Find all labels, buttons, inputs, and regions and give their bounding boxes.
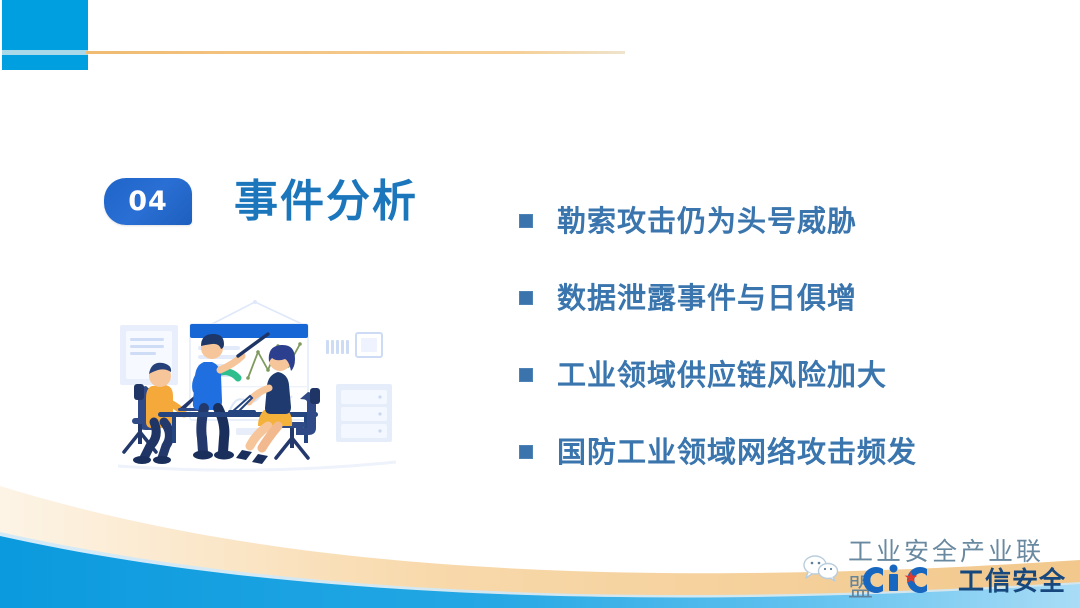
square-bullet-icon <box>519 214 533 228</box>
list-item: 数据泄露事件与日俱增 <box>519 279 917 317</box>
logo-cn-label: 工信安全 <box>958 561 1066 598</box>
logo-row: 工信安全 <box>859 561 1066 598</box>
cic-logo-icon <box>859 563 955 597</box>
wechat-icon <box>802 554 842 582</box>
page-title: 事件分析 <box>234 180 418 224</box>
section-number-label: 04 <box>128 186 168 217</box>
list-item: 工业领域供应链风险加大 <box>519 356 917 394</box>
list-item: 勒索攻击仍为头号威胁 <box>519 202 917 240</box>
list-item-label: 勒索攻击仍为头号威胁 <box>557 207 857 236</box>
accent-block-band <box>2 50 88 55</box>
slide-canvas: 04 事件分析 勒索攻击仍为头号威胁 数据泄露事件与日俱增 工业领域供应链风险加… <box>0 0 1080 608</box>
section-number-badge: 04 <box>104 178 192 225</box>
list-item-label: 数据泄露事件与日俱增 <box>557 284 857 313</box>
footer-brand: 工业安全产业联盟 工信安全 <box>768 528 1068 598</box>
top-left-accent-block <box>2 0 88 70</box>
square-bullet-icon <box>519 291 533 305</box>
top-horizontal-rule <box>86 51 625 54</box>
list-item-label: 工业领域供应链风险加大 <box>557 361 887 390</box>
square-bullet-icon <box>519 368 533 382</box>
page-heading: 04 事件分析 <box>104 178 418 225</box>
